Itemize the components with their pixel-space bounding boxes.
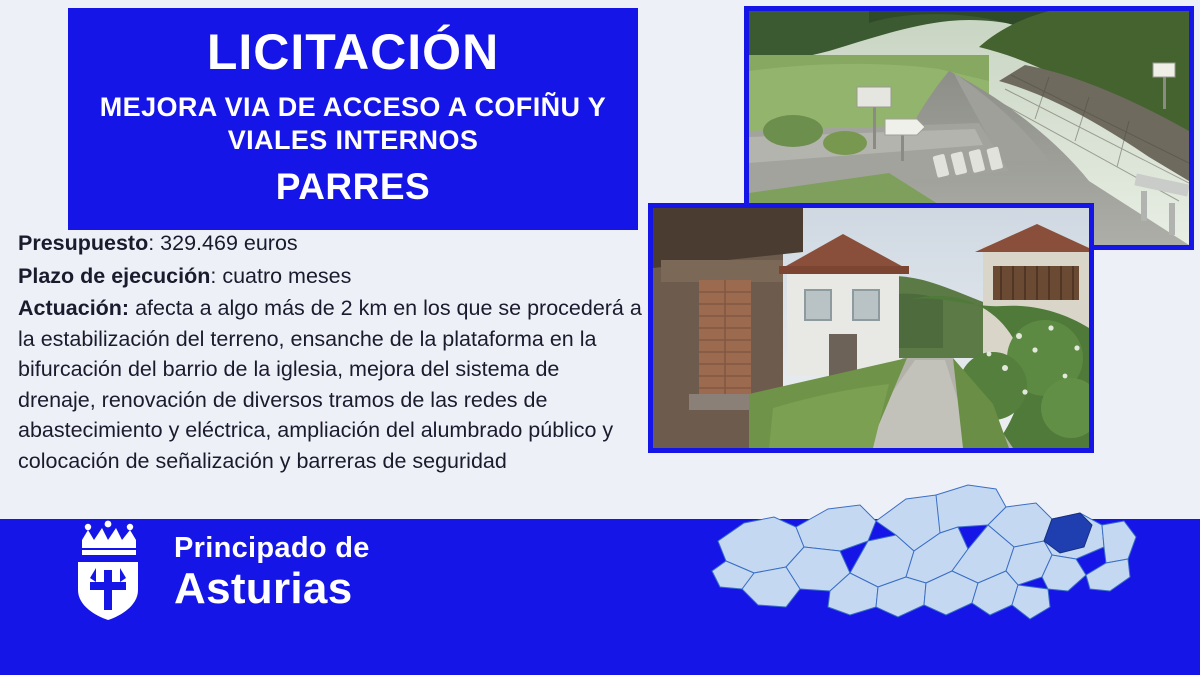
- project-subtitle: MEJORA VIA DE ACCESO A COFIÑU Y VIALES I…: [68, 91, 638, 159]
- term-value: : cuatro meses: [210, 264, 351, 288]
- title-block: LICITACIÓN MEJORA VIA DE ACCESO A COFIÑU…: [68, 8, 638, 230]
- action-label: Actuación:: [18, 296, 129, 320]
- asturias-municipalities-map: [700, 455, 1140, 640]
- term-row: Plazo de ejecución: cuatro meses: [18, 261, 643, 292]
- brand-line-1: Principado de: [174, 534, 370, 563]
- municipality-name: PARRES: [276, 166, 430, 208]
- brand-lockup: Principado de Asturias: [60, 518, 370, 627]
- budget-row: Presupuesto: 329.469 euros: [18, 228, 643, 259]
- infographic-page: LICITACIÓN MEJORA VIA DE ACCESO A COFIÑU…: [0, 0, 1200, 675]
- page-title: LICITACIÓN: [207, 26, 499, 79]
- action-value: afecta a algo más de 2 km en los que se …: [18, 296, 642, 473]
- term-label: Plazo de ejecución: [18, 264, 210, 288]
- crest-icon: [60, 518, 156, 622]
- principado-de-asturias-crest: [60, 518, 156, 627]
- village-street-image: [653, 208, 1089, 448]
- details-block: Presupuesto: 329.469 euros Plazo de ejec…: [18, 228, 643, 476]
- brand-line-2: Asturias: [174, 567, 370, 611]
- budget-label: Presupuesto: [18, 231, 148, 255]
- village-street-photo: [648, 203, 1094, 453]
- budget-value: : 329.469 euros: [148, 231, 297, 255]
- brand-text: Principado de Asturias: [174, 534, 370, 611]
- action-row: Actuación: afecta a algo más de 2 km en …: [18, 293, 643, 476]
- asturias-map-svg: [700, 455, 1140, 640]
